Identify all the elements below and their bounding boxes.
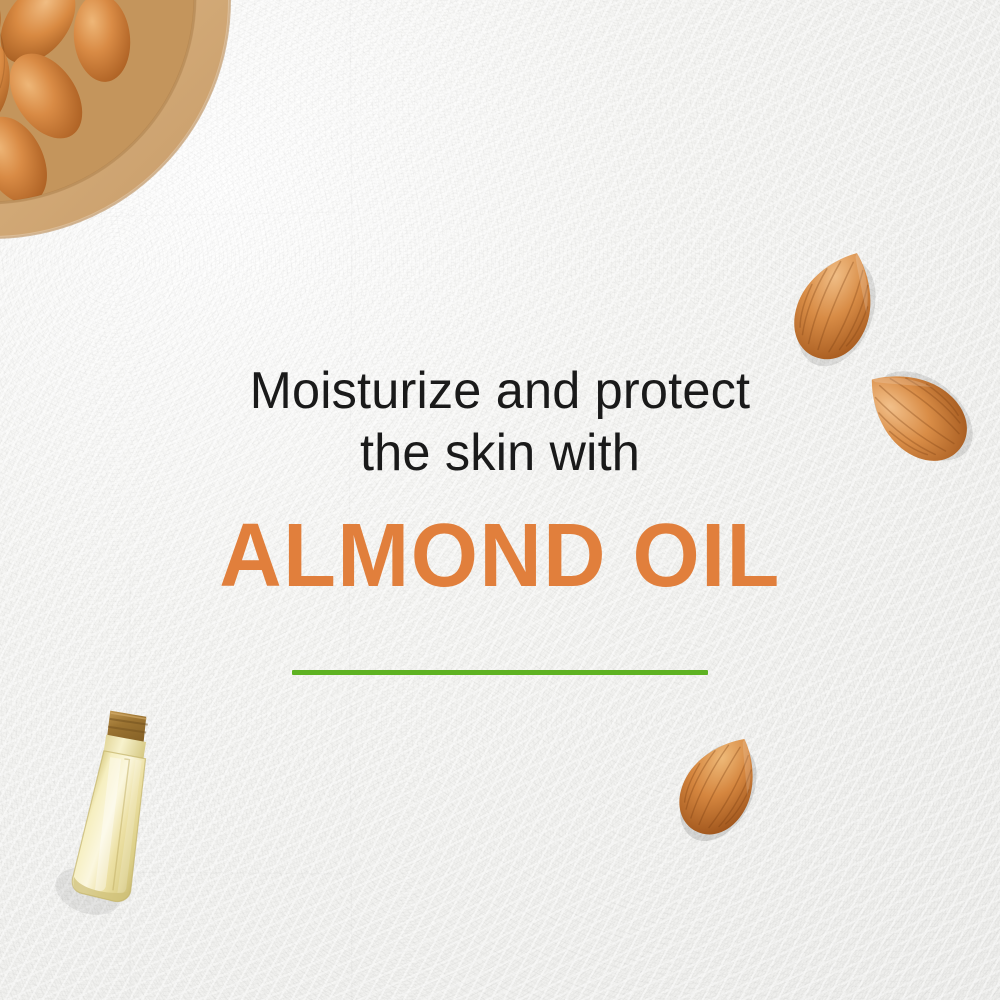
headline-line-1: Moisturize and protect bbox=[250, 362, 751, 420]
headline: Moisturize and protect the skin with bbox=[15, 360, 985, 484]
green-divider-rule bbox=[292, 670, 708, 675]
bowl-of-almonds bbox=[0, 0, 250, 250]
almond-oil-poster: Moisturize and protect the skin with ALM… bbox=[0, 0, 1000, 1000]
brand-title: ALMOND OIL bbox=[20, 508, 980, 604]
headline-line-2: the skin with bbox=[15, 422, 985, 484]
